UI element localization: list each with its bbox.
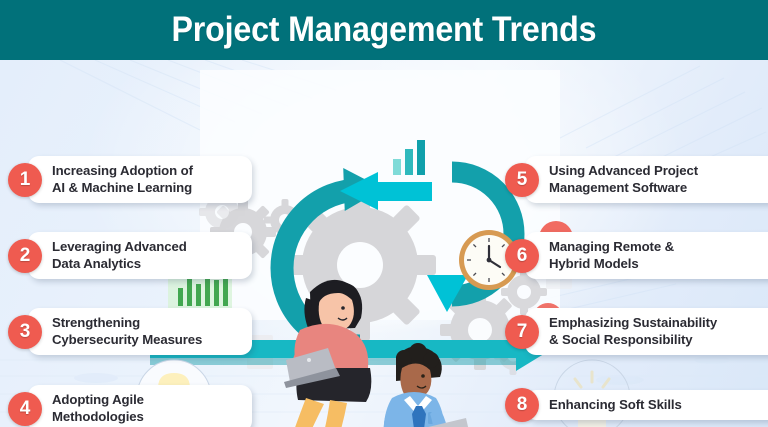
trend-item-4[interactable]: 4 Adopting Agile Methodologies	[8, 385, 252, 427]
trend-label-4[interactable]: Adopting Agile Methodologies	[28, 385, 252, 427]
trend-number-badge-7: 7	[505, 315, 539, 349]
trend-item-6[interactable]: 6 Managing Remote & Hybrid Models	[505, 232, 768, 279]
trend-item-5[interactable]: 5 Using Advanced Project Management Soft…	[505, 156, 768, 203]
trend-label-6[interactable]: Managing Remote & Hybrid Models	[525, 232, 768, 279]
trend-label-2[interactable]: Leveraging Advanced Data Analytics	[28, 232, 252, 279]
arrow-bar-top	[378, 182, 432, 201]
page-title: Project Management Trends	[172, 10, 597, 50]
trend-number-badge-8: 8	[505, 388, 539, 422]
trend-label-8[interactable]: Enhancing Soft Skills	[525, 390, 768, 421]
trend-number-badge-6: 6	[505, 239, 539, 273]
trend-label-5[interactable]: Using Advanced Project Management Softwa…	[525, 156, 768, 203]
content-canvas: 1 Increasing Adoption of AI & Machine Le…	[0, 60, 768, 427]
trend-number-badge-1: 1	[8, 163, 42, 197]
trend-number-badge-5: 5	[505, 163, 539, 197]
trend-item-1[interactable]: 1 Increasing Adoption of AI & Machine Le…	[8, 156, 252, 203]
trend-label-7[interactable]: Emphasizing Sustainability & Social Resp…	[525, 308, 768, 355]
trend-item-2[interactable]: 2 Leveraging Advanced Data Analytics	[8, 232, 252, 279]
trend-label-3[interactable]: Strengthening Cybersecurity Measures	[28, 308, 252, 355]
trend-item-7[interactable]: 7 Emphasizing Sustainability & Social Re…	[505, 308, 768, 355]
infographic-root: Project Management Trends	[0, 0, 768, 427]
trend-number-badge-3: 3	[8, 315, 42, 349]
trend-number-badge-4: 4	[8, 392, 42, 426]
trend-number-badge-2: 2	[8, 239, 42, 273]
trend-item-8[interactable]: 8 Enhancing Soft Skills	[505, 388, 768, 422]
trend-item-3[interactable]: 3 Strengthening Cybersecurity Measures	[8, 308, 252, 355]
trend-label-1[interactable]: Increasing Adoption of AI & Machine Lear…	[28, 156, 252, 203]
header-banner: Project Management Trends	[0, 0, 768, 60]
